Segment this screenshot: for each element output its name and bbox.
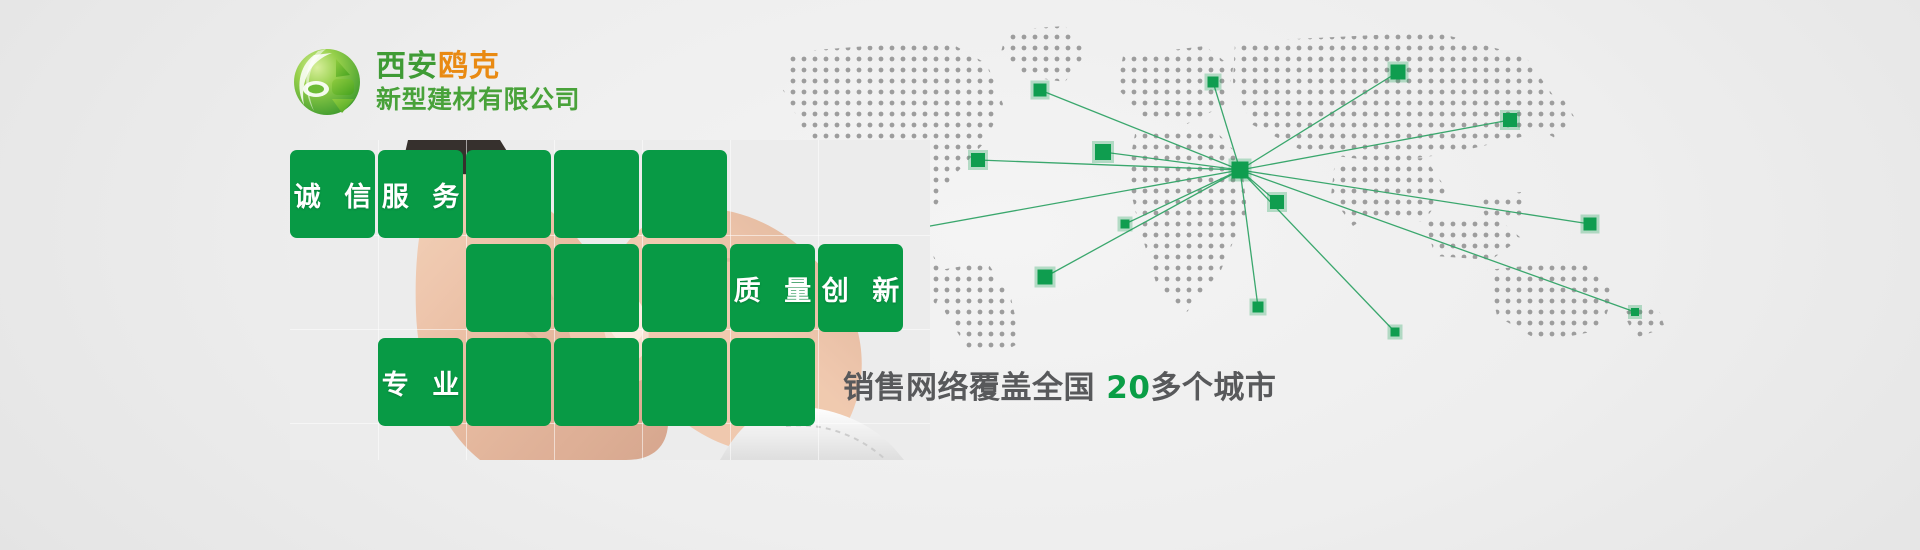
value-tile-label: 专 业 xyxy=(375,363,466,402)
company-name-line2: 新型建材有限公司 xyxy=(376,87,580,113)
value-tile-blank xyxy=(466,150,551,238)
value-tile-labeled: 创 新 xyxy=(818,244,903,332)
network-node xyxy=(1500,110,1520,130)
network-node xyxy=(1118,217,1133,232)
company-logo[interactable]: 西安鸥克 新型建材有限公司 xyxy=(292,47,580,117)
company-name-city: 西安 xyxy=(376,49,438,84)
network-node xyxy=(1628,305,1642,319)
value-tile-label: 创 新 xyxy=(815,269,906,308)
sales-network-tagline: 销售网络覆盖全国 20多个城市 xyxy=(843,362,1276,407)
value-tile-blank xyxy=(554,150,639,238)
network-node xyxy=(1388,62,1409,83)
network-node xyxy=(1092,141,1114,163)
value-tile-labeled: 诚 信 xyxy=(290,150,375,238)
value-tile-labeled: 专 业 xyxy=(378,338,463,426)
value-tile-blank xyxy=(554,244,639,332)
value-tile-blank xyxy=(642,244,727,332)
value-tile-blank xyxy=(554,338,639,426)
network-node xyxy=(968,150,988,170)
tagline-text-after: 多个城市 xyxy=(1150,370,1276,406)
company-name-brand: 鸥克 xyxy=(438,49,500,84)
value-tile-blank xyxy=(642,150,727,238)
tagline-city-count: 20 xyxy=(1106,370,1150,406)
company-name: 西安鸥克 新型建材有限公司 xyxy=(376,51,580,112)
value-tile-label: 诚 信 xyxy=(287,175,378,214)
value-tile-labeled: 服 务 xyxy=(378,150,463,238)
network-node xyxy=(1031,81,1050,100)
value-tile-blank xyxy=(466,244,551,332)
network-hub-node xyxy=(1229,159,1252,182)
tagline-text-before: 销售网络覆盖全国 xyxy=(843,370,1106,406)
leaf-globe-logo-icon xyxy=(292,47,362,117)
value-tile-label: 质 量 xyxy=(727,269,818,308)
network-node xyxy=(1388,325,1403,340)
network-node xyxy=(1267,192,1287,212)
core-values-tile-grid: 诚 信服 务质 量创 新专 业 xyxy=(290,150,906,416)
network-node xyxy=(1250,299,1267,316)
value-tile-blank xyxy=(466,338,551,426)
promo-banner: 诚 信服 务质 量创 新专 业 xyxy=(0,0,1920,550)
network-node xyxy=(1035,267,1056,288)
value-tile-label: 服 务 xyxy=(375,175,466,214)
company-name-line1: 西安鸥克 xyxy=(376,51,580,82)
network-node xyxy=(1205,74,1222,91)
value-tile-blank xyxy=(730,338,815,426)
value-tile-labeled: 质 量 xyxy=(730,244,815,332)
value-tile-blank xyxy=(642,338,727,426)
network-node xyxy=(1581,215,1600,234)
